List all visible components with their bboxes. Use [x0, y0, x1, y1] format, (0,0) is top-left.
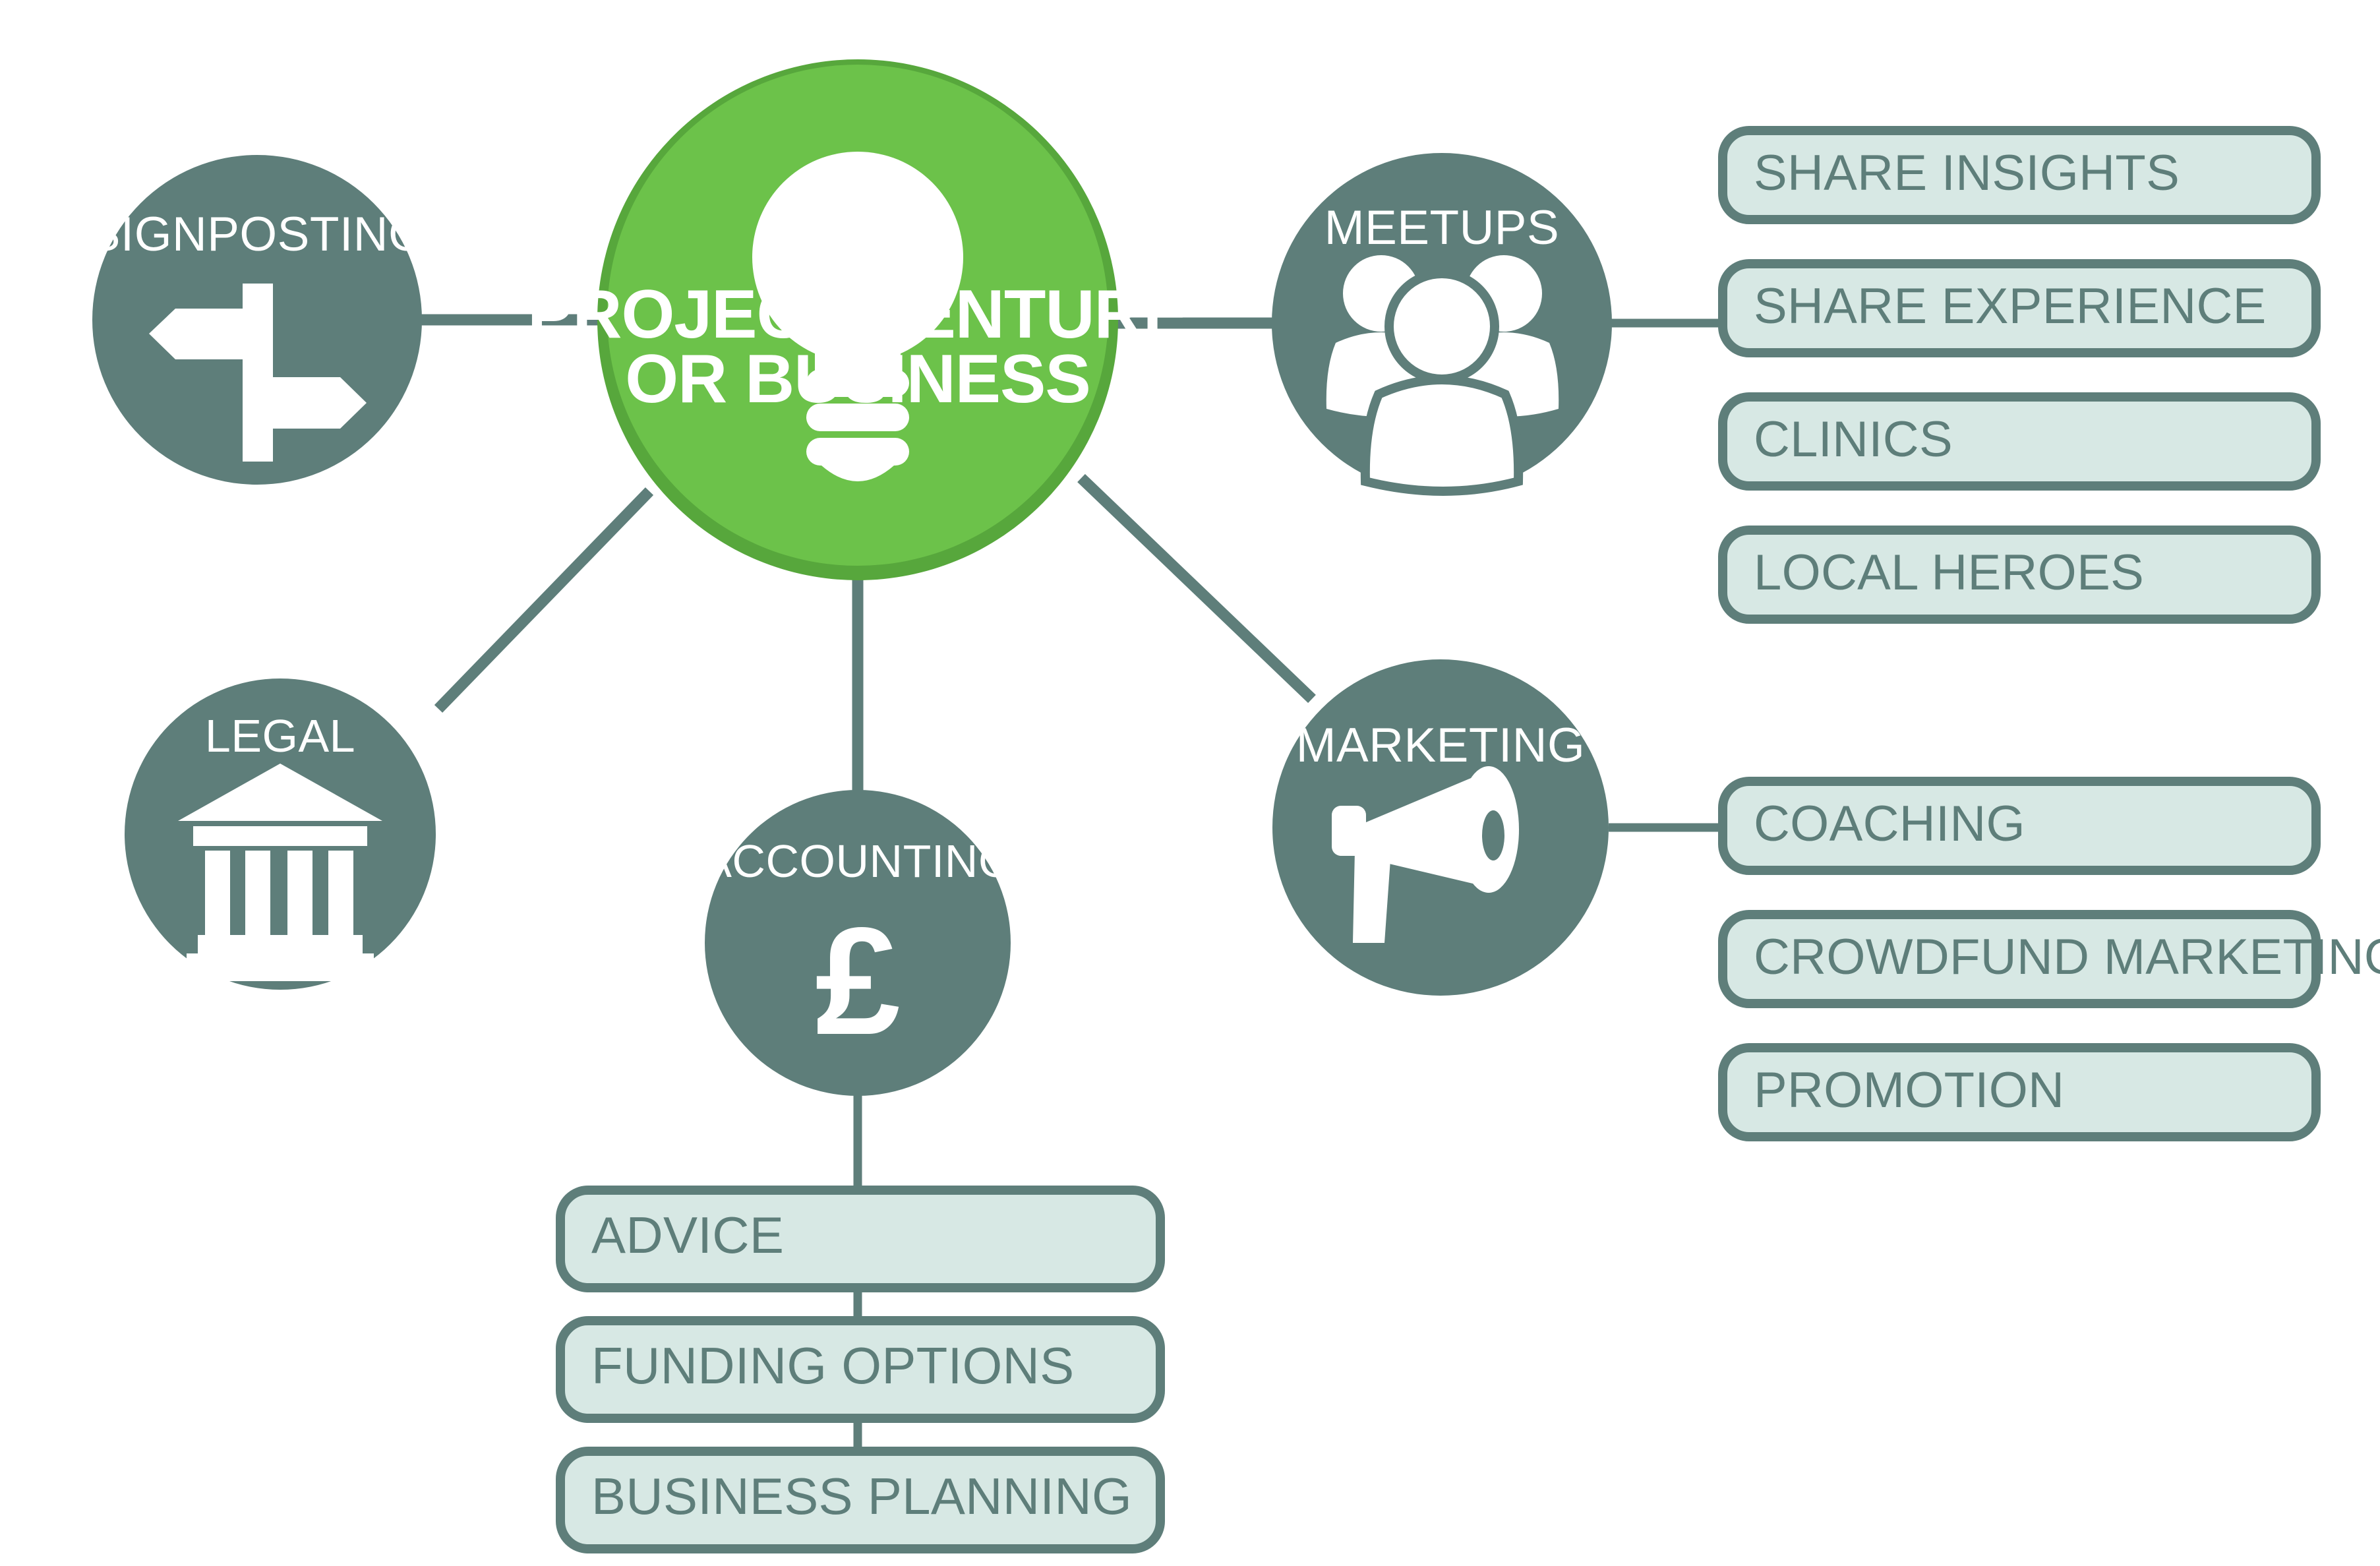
pill-clinics-label: CLINICS — [1754, 411, 1953, 467]
node-accounting[interactable]: ACCOUNTING £ — [701, 790, 1015, 1096]
pill-promotion[interactable]: PROMOTION — [1723, 1048, 2316, 1137]
diagram-canvas: SHARE INSIGHTS SHARE EXPERIENCE CLINICS … — [0, 0, 2380, 1566]
mindmap-diagram: SHARE INSIGHTS SHARE EXPERIENCE CLINICS … — [0, 0, 2380, 1566]
node-accounting-label: ACCOUNTING — [701, 835, 1015, 887]
pill-local-heroes[interactable]: LOCAL HEROES — [1723, 530, 2316, 619]
connector-center-marketing — [1081, 478, 1312, 699]
node-marketing-label: MARKETING — [1296, 719, 1585, 772]
pill-share-insights-label: SHARE INSIGHTS — [1754, 145, 2180, 201]
pill-coaching[interactable]: COACHING — [1723, 781, 2316, 870]
pill-promotion-label: PROMOTION — [1754, 1062, 2064, 1118]
pill-group-accounting: ADVICE FUNDING OPTIONS BUSINESS PLANNING — [560, 1190, 1160, 1549]
center-node[interactable]: YOUR PROJECT/VENTURE OR BUSINESS — [527, 59, 1188, 580]
pill-advice[interactable]: ADVICE — [560, 1190, 1160, 1288]
node-legal-label: LEGAL — [205, 710, 355, 762]
pill-coaching-label: COACHING — [1754, 796, 2025, 852]
pound-sterling-icon: £ — [815, 896, 900, 1067]
pill-share-insights[interactable]: SHARE INSIGHTS — [1723, 131, 2316, 220]
center-line-1: YOUR — [767, 212, 947, 283]
pill-business-planning-label: BUSINESS PLANNING — [591, 1467, 1132, 1525]
pill-share-experience[interactable]: SHARE EXPERIENCE — [1723, 264, 2316, 353]
pill-local-heroes-label: LOCAL HEROES — [1754, 545, 2144, 601]
pill-funding-options[interactable]: FUNDING OPTIONS — [560, 1321, 1160, 1418]
pill-business-planning[interactable]: BUSINESS PLANNING — [560, 1451, 1160, 1549]
pill-share-experience-label: SHARE EXPERIENCE — [1754, 278, 2267, 334]
node-meetups[interactable]: MEETUPS — [1272, 153, 1612, 493]
node-meetups-label: MEETUPS — [1324, 201, 1559, 255]
node-signposting[interactable]: SIGNPOSTING — [88, 155, 427, 485]
pill-funding-options-label: FUNDING OPTIONS — [591, 1337, 1075, 1395]
connector-center-legal — [438, 491, 649, 709]
node-marketing[interactable]: MARKETING — [1272, 659, 1609, 996]
pill-crowdfund-marketing[interactable]: CROWDFUND MARKETING — [1723, 915, 2380, 1004]
pill-advice-label: ADVICE — [591, 1206, 784, 1264]
node-signposting-label: SIGNPOSTING — [88, 208, 427, 261]
pill-clinics[interactable]: CLINICS — [1723, 397, 2316, 486]
pill-crowdfund-marketing-label: CROWDFUND MARKETING — [1754, 929, 2380, 985]
pill-group-marketing: COACHING CROWDFUND MARKETING PROMOTION — [1723, 781, 2380, 1137]
center-line-3: OR BUSINESS — [625, 341, 1090, 417]
pill-group-meetups: SHARE INSIGHTS SHARE EXPERIENCE CLINICS … — [1723, 131, 2316, 619]
node-legal[interactable]: LEGAL — [125, 678, 436, 990]
